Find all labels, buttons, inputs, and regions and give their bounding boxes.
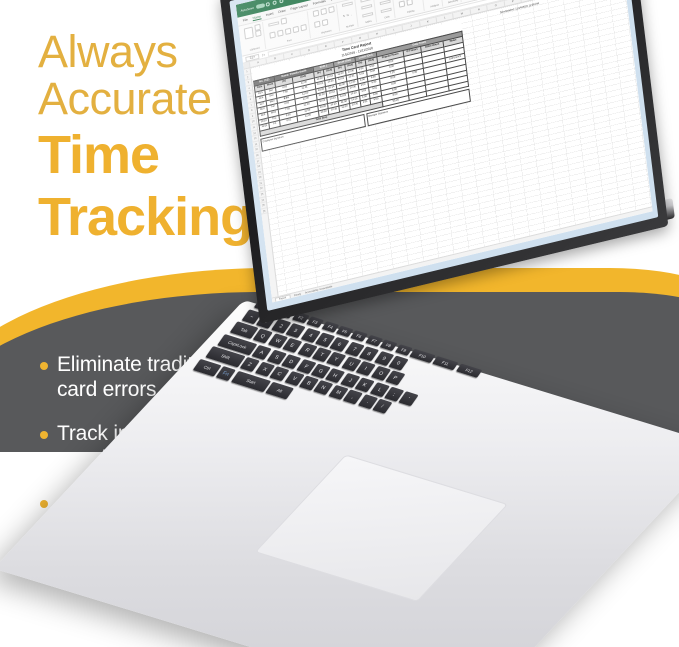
quick-access-toolbar[interactable] [266,0,284,6]
key-f8[interactable]: F8 [380,339,398,351]
underline-icon[interactable] [285,28,292,35]
screen-display: AutoSave Time Card Report_M_11011010 [229,0,658,311]
currency-icon[interactable]: $ [343,15,345,18]
bullet-dot-icon [40,431,48,439]
delete-cells-icon[interactable] [380,0,391,6]
sort-filter-icon[interactable] [399,0,406,7]
comma-icon[interactable]: , [351,13,352,16]
row-header-26[interactable]: 26 [261,208,268,215]
format-as-table-icon[interactable] [361,4,372,10]
bullet-dot-icon [40,362,48,370]
tab-insert[interactable]: Insert [266,11,274,17]
align-center-icon[interactable] [320,8,327,15]
manager-signature-label: Manager Signature [368,110,388,118]
italic-icon[interactable] [277,30,284,37]
employee-signature-label: Employee Signature [262,135,283,143]
autosave-label: AutoSave [240,5,254,12]
autosave-switch-icon[interactable] [256,3,265,9]
bold-icon[interactable] [269,31,276,38]
insert-function-icon[interactable]: ƒx [262,52,265,57]
autosave-toggle[interactable]: AutoSave [240,3,265,13]
align-right-icon[interactable] [328,6,335,13]
tab-home[interactable]: Home [252,14,261,21]
ribbon-group-cells[interactable]: Cells [377,0,396,22]
ribbon-group-alignment[interactable]: Alignment [311,4,341,37]
bullet-dot-icon [40,500,48,508]
ribbon-group-label: Number [345,23,356,29]
laptop-screen: AutoSave Time Card Report_M_11011010 [220,0,669,324]
tab-draw[interactable]: Draw [278,8,286,14]
font-name-box[interactable] [268,21,279,27]
tab-data[interactable]: Data [330,0,337,2]
save-icon[interactable] [266,1,270,6]
tab-file[interactable]: File [243,17,248,22]
percent-icon[interactable]: % [346,14,349,18]
undo-icon[interactable] [272,0,276,5]
ribbon-group-label: Analysis [429,3,440,9]
key-f3[interactable]: F3 [306,316,324,328]
number-format-dropdown[interactable] [342,1,353,7]
wrap-text-icon[interactable] [314,21,321,28]
ribbon-group-label: Sensitivity [448,0,459,4]
excel-window: AutoSave Time Card Report_M_11011010 [236,0,653,303]
ribbon-group-label: Cells [381,15,392,21]
ribbon-group-clipboard[interactable]: Clipboard [242,22,267,54]
merge-center-icon[interactable] [322,19,329,26]
fill-color-icon[interactable] [300,24,307,31]
ready-status: Ready [294,292,301,297]
font-size-box[interactable] [281,17,288,24]
align-left-icon[interactable] [313,10,320,17]
marketing-banner: Always Accurate Time Tracking Eliminate … [0,0,679,647]
paste-icon[interactable] [244,26,254,39]
find-select-icon[interactable] [406,0,413,6]
format-cells-icon[interactable] [381,7,392,13]
laptop-mockup: EscF1F2F3F4F5F6F7F8F9F10F11F12 ~12345678… [246,0,679,560]
cell-styles-icon[interactable] [362,12,373,18]
conditional-formatting-icon[interactable] [360,0,371,3]
copy-icon[interactable] [255,30,262,37]
tab-formulas[interactable]: Formulas [313,0,326,6]
ribbon-group-number[interactable]: $%, Number [340,0,359,30]
ribbon-group-styles[interactable]: Styles [358,0,377,26]
border-icon[interactable] [293,26,300,33]
redo-icon[interactable] [279,0,283,3]
ribbon-group-label: Styles [363,19,374,25]
